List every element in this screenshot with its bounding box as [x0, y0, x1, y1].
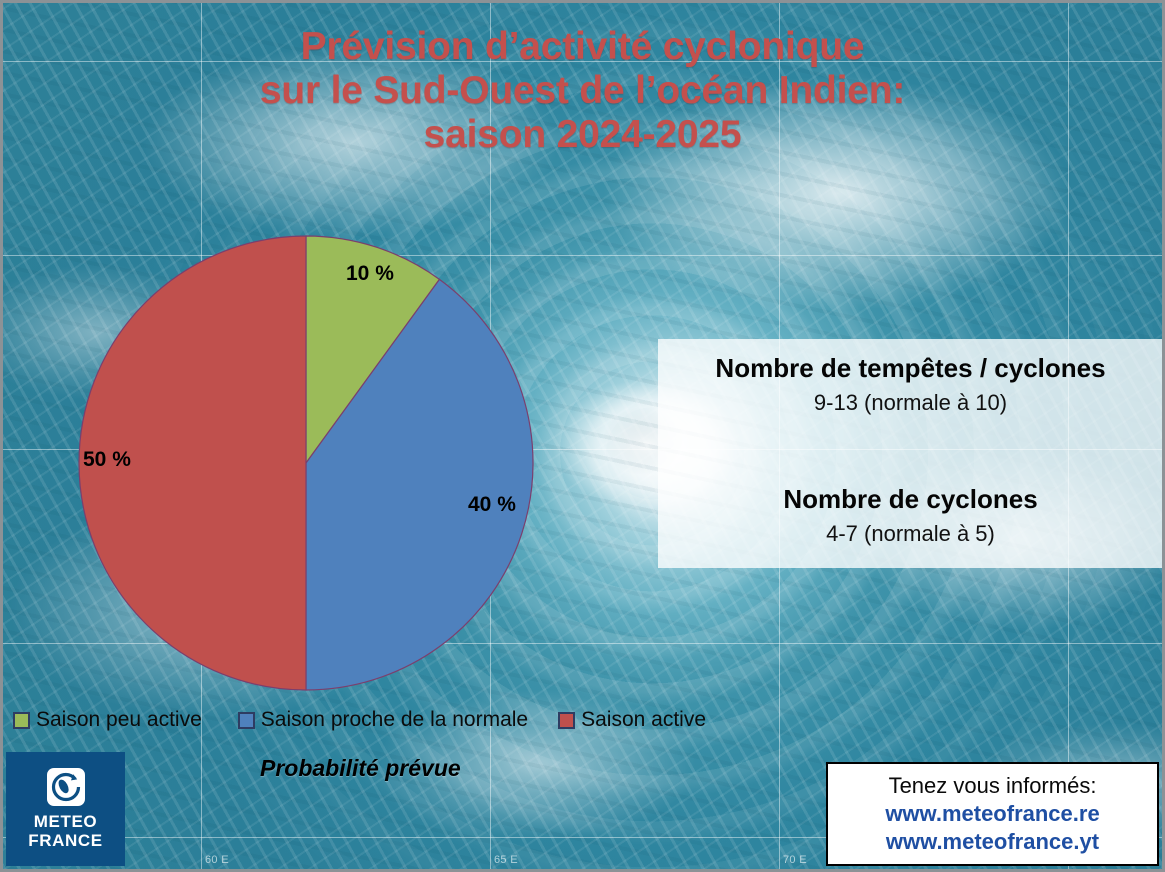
legend-item-proche-normale[interactable]: Saison proche de la normale — [238, 708, 528, 732]
legend-item-active[interactable]: Saison active — [558, 708, 706, 732]
storms-heading: Nombre de tempêtes / cyclones — [658, 353, 1163, 384]
meteo-france-logo[interactable]: METEO FRANCE — [6, 752, 125, 866]
forecast-poster: 60 E 65 E 70 E Prévision d’activité cycl… — [0, 0, 1165, 872]
legend-label-active: Saison active — [581, 708, 706, 732]
title-line-1: Prévision d’activité cyclonique — [3, 25, 1162, 69]
contact-link-yt[interactable]: www.meteofrance.yt — [886, 829, 1099, 855]
legend-label-peu-active: Saison peu active — [36, 708, 202, 732]
title-line-3: saison 2024-2025 — [3, 113, 1162, 157]
graticule-label-70e: 70 E — [783, 854, 807, 866]
cyclones-block: Nombre de cyclones 4-7 (normale à 5) — [658, 484, 1163, 547]
title-line-2: sur le Sud-Ouest de l’océan Indien: — [3, 69, 1162, 113]
contact-heading: Tenez vous informés: — [889, 773, 1097, 799]
pie-slice-label-peu-active: 10 % — [346, 262, 394, 286]
probability-pie-chart: 10 % 40 % 50 % — [78, 235, 534, 691]
logo-line-1: METEO — [28, 813, 102, 831]
legend-item-peu-active[interactable]: Saison peu active — [13, 708, 202, 732]
meteo-france-wordmark: METEO FRANCE — [28, 813, 102, 850]
legend-swatch-proche-normale — [238, 712, 255, 729]
contact-link-re[interactable]: www.meteofrance.re — [885, 801, 1099, 827]
page-title: Prévision d’activité cyclonique sur le S… — [3, 25, 1162, 157]
legend-label-proche-normale: Saison proche de la normale — [261, 708, 528, 732]
pie-slice-label-active: 50 % — [83, 448, 131, 472]
chart-caption: Probabilité prévue — [260, 755, 461, 782]
cyclones-heading: Nombre de cyclones — [658, 484, 1163, 515]
legend-swatch-peu-active — [13, 712, 30, 729]
legend-swatch-active — [558, 712, 575, 729]
graticule-label-65e: 65 E — [494, 854, 518, 866]
graticule-label-60e: 60 E — [205, 854, 229, 866]
chart-legend: Saison peu active Saison proche de la no… — [13, 708, 706, 732]
storms-block: Nombre de tempêtes / cyclones 9-13 (norm… — [658, 353, 1163, 416]
cyclones-range: 4-7 (normale à 5) — [658, 521, 1163, 547]
contact-box: Tenez vous informés: www.meteofrance.re … — [826, 762, 1159, 866]
pie-slice-label-normale: 40 % — [468, 493, 516, 517]
pie-svg — [78, 235, 534, 691]
meteo-france-mark-icon — [47, 768, 85, 806]
storms-range: 9-13 (normale à 10) — [658, 390, 1163, 416]
forecast-numbers-panel: Nombre de tempêtes / cyclones 9-13 (norm… — [658, 339, 1163, 568]
logo-line-2: FRANCE — [28, 832, 102, 850]
